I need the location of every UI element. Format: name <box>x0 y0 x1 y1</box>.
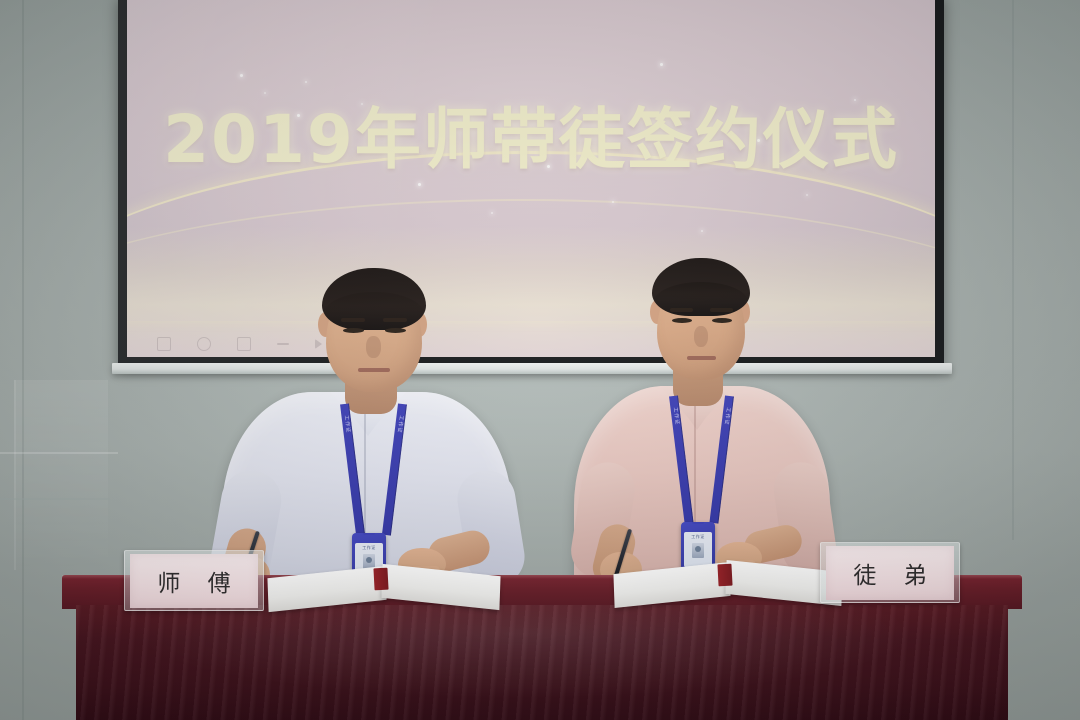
pencil-icon[interactable] <box>237 337 251 351</box>
wall-seam <box>0 498 110 500</box>
apprentice-id-badge[interactable]: 工作证 <box>681 522 715 570</box>
home-icon[interactable] <box>157 337 171 351</box>
badge-photo-icon <box>692 543 704 558</box>
wall-seam <box>1012 0 1014 540</box>
projection-screen-surface: 2019年师带徒签约仪式 <box>127 0 935 357</box>
slide-title: 2019年师带徒签约仪式 <box>127 86 935 182</box>
sparkle-icon <box>418 183 421 186</box>
sparkle-icon <box>660 63 663 66</box>
document-spine <box>717 564 732 587</box>
apprentice-brow-left <box>670 308 693 312</box>
mentor-mouth <box>358 368 390 372</box>
sparkle-icon <box>491 212 493 214</box>
sparkle-icon <box>701 230 703 232</box>
nameplate-mentor-label: 师 傅 <box>130 554 258 608</box>
mentor-eye-left <box>343 328 364 333</box>
powerpoint-toolbar[interactable] <box>127 333 935 355</box>
wall-seam <box>0 452 118 454</box>
badge-clip-icon <box>692 522 704 524</box>
document-spine <box>373 568 388 591</box>
wall-seam <box>22 0 24 720</box>
sparkle-icon <box>612 201 614 203</box>
dash-icon[interactable] <box>277 343 289 345</box>
shapes-icon[interactable] <box>197 337 211 351</box>
sparkle-icon <box>240 74 243 77</box>
mentor-eye-right <box>385 328 406 333</box>
badge-card: 工作证 <box>684 532 712 567</box>
nameplate-mentor[interactable]: 师 傅 <box>130 554 258 608</box>
apprentice-brow-right <box>710 308 733 312</box>
mentor-brow-right <box>383 318 407 322</box>
apprentice-nose <box>694 326 708 347</box>
nameplate-apprentice-label: 徒 弟 <box>826 546 954 600</box>
nameplate-apprentice[interactable]: 徒 弟 <box>826 546 954 600</box>
apprentice-eye-right <box>712 318 732 323</box>
badge-card-title: 工作证 <box>684 534 712 540</box>
sparkle-icon <box>305 81 307 83</box>
projection-screen-frame: 2019年师带徒签约仪式 <box>118 0 944 366</box>
sparkle-icon <box>806 194 808 196</box>
badge-clip-icon <box>363 533 375 535</box>
badge-card-title: 工作证 <box>355 545 383 551</box>
projection-screen-casing <box>112 363 952 374</box>
photo-scene: 2019年师带徒签约仪式 <box>0 0 1080 720</box>
arrow-icon[interactable] <box>315 339 322 349</box>
mentor-nose <box>366 336 381 358</box>
mentor-brow-left <box>341 318 365 322</box>
table-cloth <box>76 605 1008 720</box>
apprentice-mouth <box>687 356 716 360</box>
wall-panel <box>14 380 108 570</box>
apprentice-eye-left <box>672 318 692 323</box>
